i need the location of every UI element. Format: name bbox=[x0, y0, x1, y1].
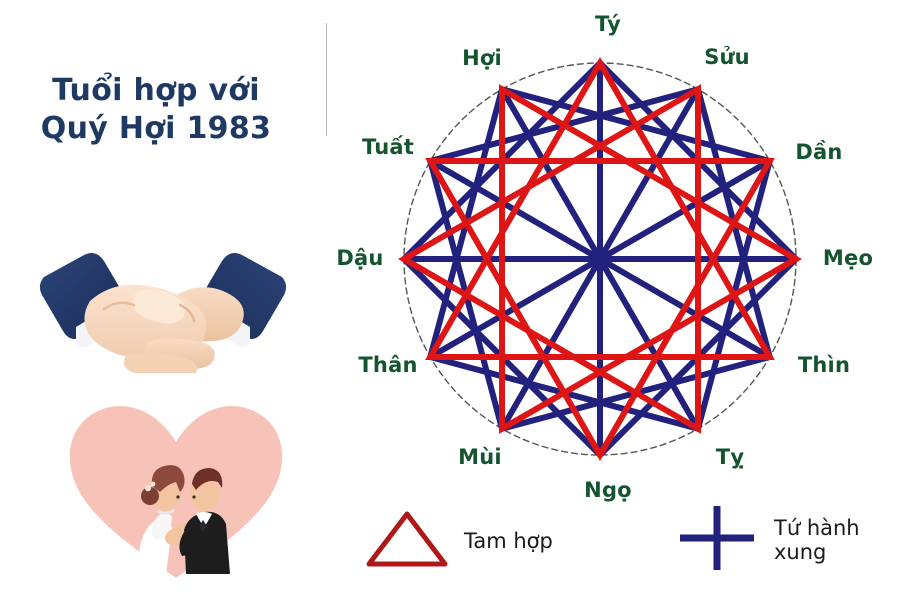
zodiac-label-11: Hợi bbox=[462, 46, 502, 70]
zodiac-label-0: Tý bbox=[595, 12, 621, 36]
legend-label-tu-hanh-xung: Tứ hành xung bbox=[774, 517, 860, 564]
left-info-panel: Tuổi hợp với Quý Hợi 1983 bbox=[0, 0, 326, 600]
zodiac-label-5: Tỵ bbox=[716, 445, 744, 469]
diagram-legend: Tam hợp Tứ hành xung bbox=[326, 500, 900, 600]
page-title-line-2: Quý Hợi 1983 bbox=[0, 110, 312, 148]
page-title-line-1: Tuổi hợp với bbox=[0, 72, 312, 110]
tu-hanh-xung-cross-icon bbox=[674, 502, 760, 579]
legend-label-tam-hop: Tam hợp bbox=[464, 530, 553, 554]
page-title: Tuổi hợp với Quý Hợi 1983 bbox=[0, 72, 312, 149]
zodiac-label-3: Mẹo bbox=[823, 246, 873, 270]
zodiac-label-6: Ngọ bbox=[584, 478, 632, 502]
zodiac-label-9: Dậu bbox=[336, 246, 383, 270]
tu-hanh-xung-lines bbox=[404, 63, 796, 455]
wedding-couple-heart-icon bbox=[62, 398, 290, 584]
page-root: Tuổi hợp với Quý Hợi 1983 bbox=[0, 0, 900, 600]
legend-item-tam-hop: Tam hợp bbox=[364, 508, 553, 575]
zodiac-label-8: Thân bbox=[358, 353, 417, 377]
zodiac-label-4: Thìn bbox=[798, 353, 850, 377]
zodiac-label-1: Sửu bbox=[704, 45, 750, 69]
zodiac-wheel-svg bbox=[326, 0, 900, 500]
zodiac-label-10: Tuất bbox=[362, 135, 414, 159]
tam-hop-triangle-icon bbox=[364, 508, 450, 575]
zodiac-label-2: Dần bbox=[795, 140, 842, 164]
zodiac-label-7: Mùi bbox=[458, 445, 502, 469]
legend-item-tu-hanh-xung: Tứ hành xung bbox=[674, 502, 860, 579]
zodiac-compatibility-diagram: TýSửuDầnMẹoThìnTỵNgọMùiThânDậuTuấtHợi Ta… bbox=[326, 0, 900, 600]
handshake-icon bbox=[38, 243, 288, 375]
